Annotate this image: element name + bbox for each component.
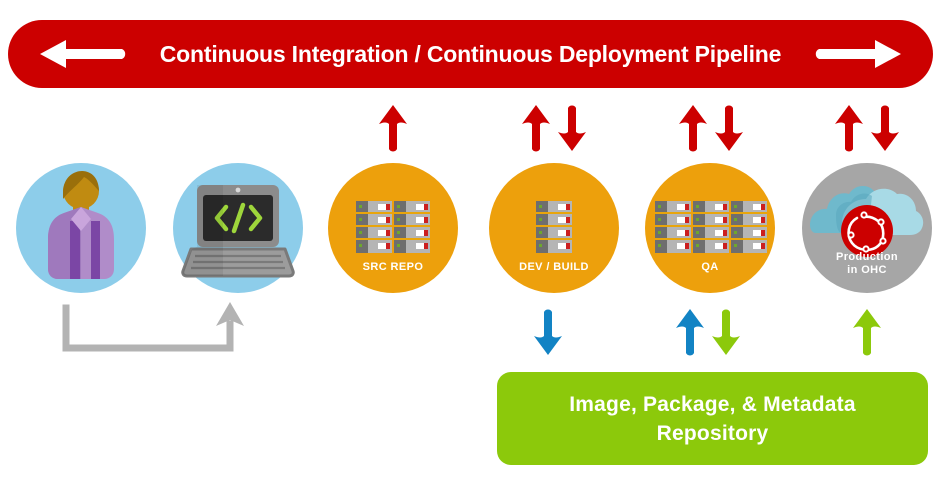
arrow-down-icon (533, 308, 563, 356)
node-label-qa: QA (645, 261, 775, 274)
node-dev-build[interactable]: DEV / BUILD (489, 163, 619, 293)
pipeline-banner: Continuous Integration / Continuous Depl… (8, 20, 933, 88)
repository-label: Image, Package, & Metadata Repository (569, 390, 856, 448)
arrow-up-icon (675, 308, 705, 356)
node-src-repo[interactable]: SRC REPO (328, 163, 458, 293)
arrow-right-icon (809, 38, 905, 70)
diagram-canvas: Continuous Integration / Continuous Depl… (0, 0, 941, 500)
repository-label-line2: Repository (569, 419, 856, 448)
node-label-production-line2: in OHC (802, 264, 932, 277)
arrow-up-icon (678, 104, 708, 152)
repository-box[interactable]: Image, Package, & Metadata Repository (497, 372, 928, 465)
banner-title: Continuous Integration / Continuous Depl… (128, 20, 813, 88)
node-label-dev-build: DEV / BUILD (489, 261, 619, 274)
arrow-up-icon (378, 104, 408, 152)
arrow-up-icon (852, 308, 882, 356)
node-qa[interactable]: QA (645, 163, 775, 293)
person-icon (16, 163, 146, 293)
node-production[interactable]: Production in OHC (802, 163, 932, 293)
arrow-left-icon (36, 38, 132, 70)
arrow-up-icon (834, 104, 864, 152)
arrow-down-icon (557, 104, 587, 152)
arrow-down-icon (711, 308, 741, 356)
arrow-up-icon (521, 104, 551, 152)
node-developer[interactable] (16, 163, 146, 293)
node-label-src-repo: SRC REPO (328, 261, 458, 274)
node-workstation[interactable] (173, 163, 303, 293)
node-label-production-line1: Production (802, 251, 932, 264)
arrow-down-icon (870, 104, 900, 152)
arrow-down-icon (714, 104, 744, 152)
repository-label-line1: Image, Package, & Metadata (569, 390, 856, 419)
laptop-code-icon (173, 163, 303, 293)
developer-to-workstation-connector (60, 300, 260, 358)
